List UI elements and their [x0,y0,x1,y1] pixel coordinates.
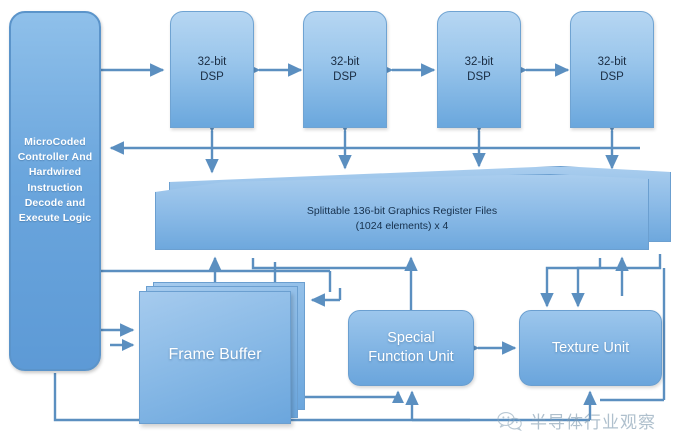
graphics-register-file-block[interactable]: Splittable 136-bit Graphics Register Fil… [155,166,671,254]
frame-buffer-label: Frame Buffer [139,346,291,364]
microcoded-controller-block[interactable]: MicroCoded Controller And Hardwired Inst… [9,11,101,371]
dsp-label-1: 32-bit DSP [198,55,227,85]
dsp-block-1[interactable]: 32-bit DSP [170,11,254,128]
texture-unit-label: Texture Unit [552,339,629,358]
special-function-unit-label: Special Function Unit [368,329,453,367]
dsp-block-4[interactable]: 32-bit DSP [570,11,654,128]
watermark: 半导体行业观察 [497,408,656,433]
special-function-unit-block[interactable]: Special Function Unit [348,310,474,386]
dsp-label-2: 32-bit DSP [331,55,360,85]
texture-unit-block[interactable]: Texture Unit [519,310,662,386]
controller-label: MicroCoded Controller And Hardwired Inst… [11,135,99,226]
wechat-icon [497,411,523,431]
register-file-label: Splittable 136-bit Graphics Register Fil… [155,204,649,233]
dsp-block-2[interactable]: 32-bit DSP [303,11,387,128]
dsp-block-3[interactable]: 32-bit DSP [437,11,521,128]
dsp-label-3: 32-bit DSP [465,55,494,85]
dsp-label-4: 32-bit DSP [598,55,627,85]
watermark-text: 半导体行业观察 [530,408,656,433]
frame-buffer-block[interactable]: Frame Buffer [139,282,305,424]
diagram-canvas: MicroCoded Controller And Hardwired Inst… [0,0,683,443]
